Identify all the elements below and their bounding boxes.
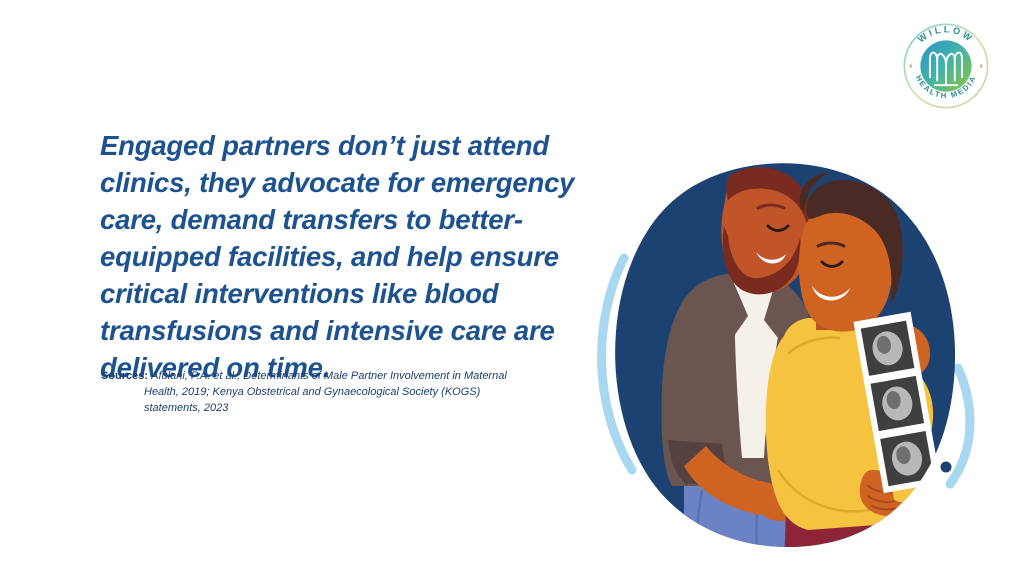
couple-illustration <box>572 140 1012 570</box>
sources-citation: Sources: Afulani, P.A. et al., Determina… <box>101 368 571 416</box>
quote-text: Engaged partners don’t just attend clini… <box>100 127 640 386</box>
slide-canvas: WILLOW HEALTH MEDIA Engaged partners don… <box>0 0 1024 576</box>
sources-label: Sources: <box>101 370 148 382</box>
sources-line-1: Afulani, P.A. et al., Determinants of Ma… <box>151 370 507 382</box>
sources-line-3: statements, 2023 <box>101 400 571 416</box>
willow-health-media-logo: WILLOW HEALTH MEDIA <box>898 18 994 114</box>
accent-dot <box>941 462 952 473</box>
sources-line-2: Health, 2019; Kenya Obstetrical and Gyna… <box>101 384 571 400</box>
